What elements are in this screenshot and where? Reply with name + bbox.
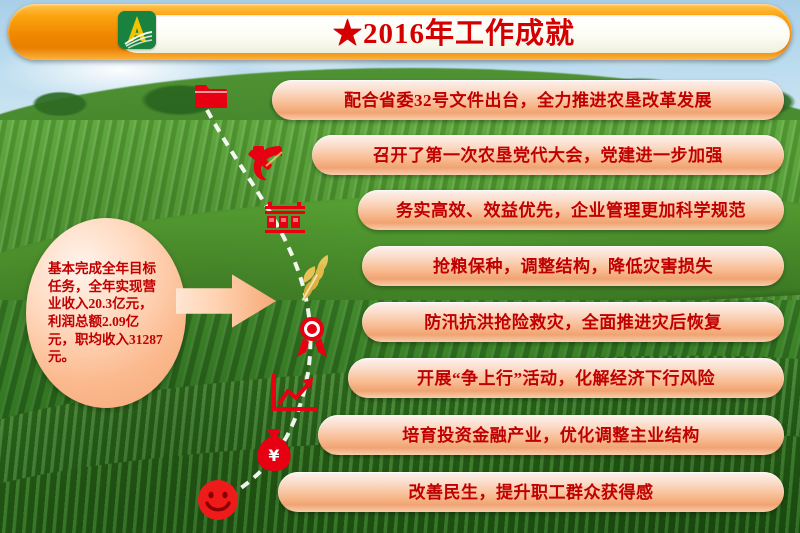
achievement-text-7: 培育投资金融产业，优化调整主业结构 [402, 427, 700, 444]
achievement-text-4: 抢粮保种，调整结构，降低灾害损失 [433, 258, 713, 275]
slide-root: ¥ 基本完成全年目标任务，全年实现营业收入20.3亿元，利润总额2.09亿元，职… [0, 0, 800, 533]
achievement-list: 配合省委32号文件出台，全力推进农垦改革发展 召开了第一次农垦党代大会，党建进一… [0, 0, 800, 533]
achievement-bar-1[interactable]: 配合省委32号文件出台，全力推进农垦改革发展 [272, 80, 784, 120]
achievement-text-5: 防汛抗洪抢险救灾，全面推进灾后恢复 [424, 314, 722, 331]
achievement-text-8: 改善民生，提升职工群众获得感 [409, 484, 654, 501]
page-title: ★2016年工作成就 [333, 20, 575, 49]
achievement-bar-5[interactable]: 防汛抗洪抢险救灾，全面推进灾后恢复 [362, 302, 784, 342]
achievement-text-3: 务实高效、效益优先，企业管理更加科学规范 [396, 202, 746, 219]
achievement-bar-7[interactable]: 培育投资金融产业，优化调整主业结构 [318, 415, 784, 455]
achievement-text-6: 开展“争上行”活动，化解经济下行风险 [417, 370, 715, 387]
achievement-bar-2[interactable]: 召开了第一次农垦党代大会，党建进一步加强 [312, 135, 784, 175]
nongken-logo-icon [118, 11, 156, 49]
achievement-bar-8[interactable]: 改善民生，提升职工群众获得感 [278, 472, 784, 512]
achievement-bar-4[interactable]: 抢粮保种，调整结构，降低灾害损失 [362, 246, 784, 286]
achievement-bar-3[interactable]: 务实高效、效益优先，企业管理更加科学规范 [358, 190, 784, 230]
title-plate: ★2016年工作成就 [118, 15, 790, 53]
achievement-bar-6[interactable]: 开展“争上行”活动，化解经济下行风险 [348, 358, 784, 398]
achievement-text-1: 配合省委32号文件出台，全力推进农垦改革发展 [344, 92, 712, 109]
achievement-text-2: 召开了第一次农垦党代大会，党建进一步加强 [373, 147, 723, 164]
